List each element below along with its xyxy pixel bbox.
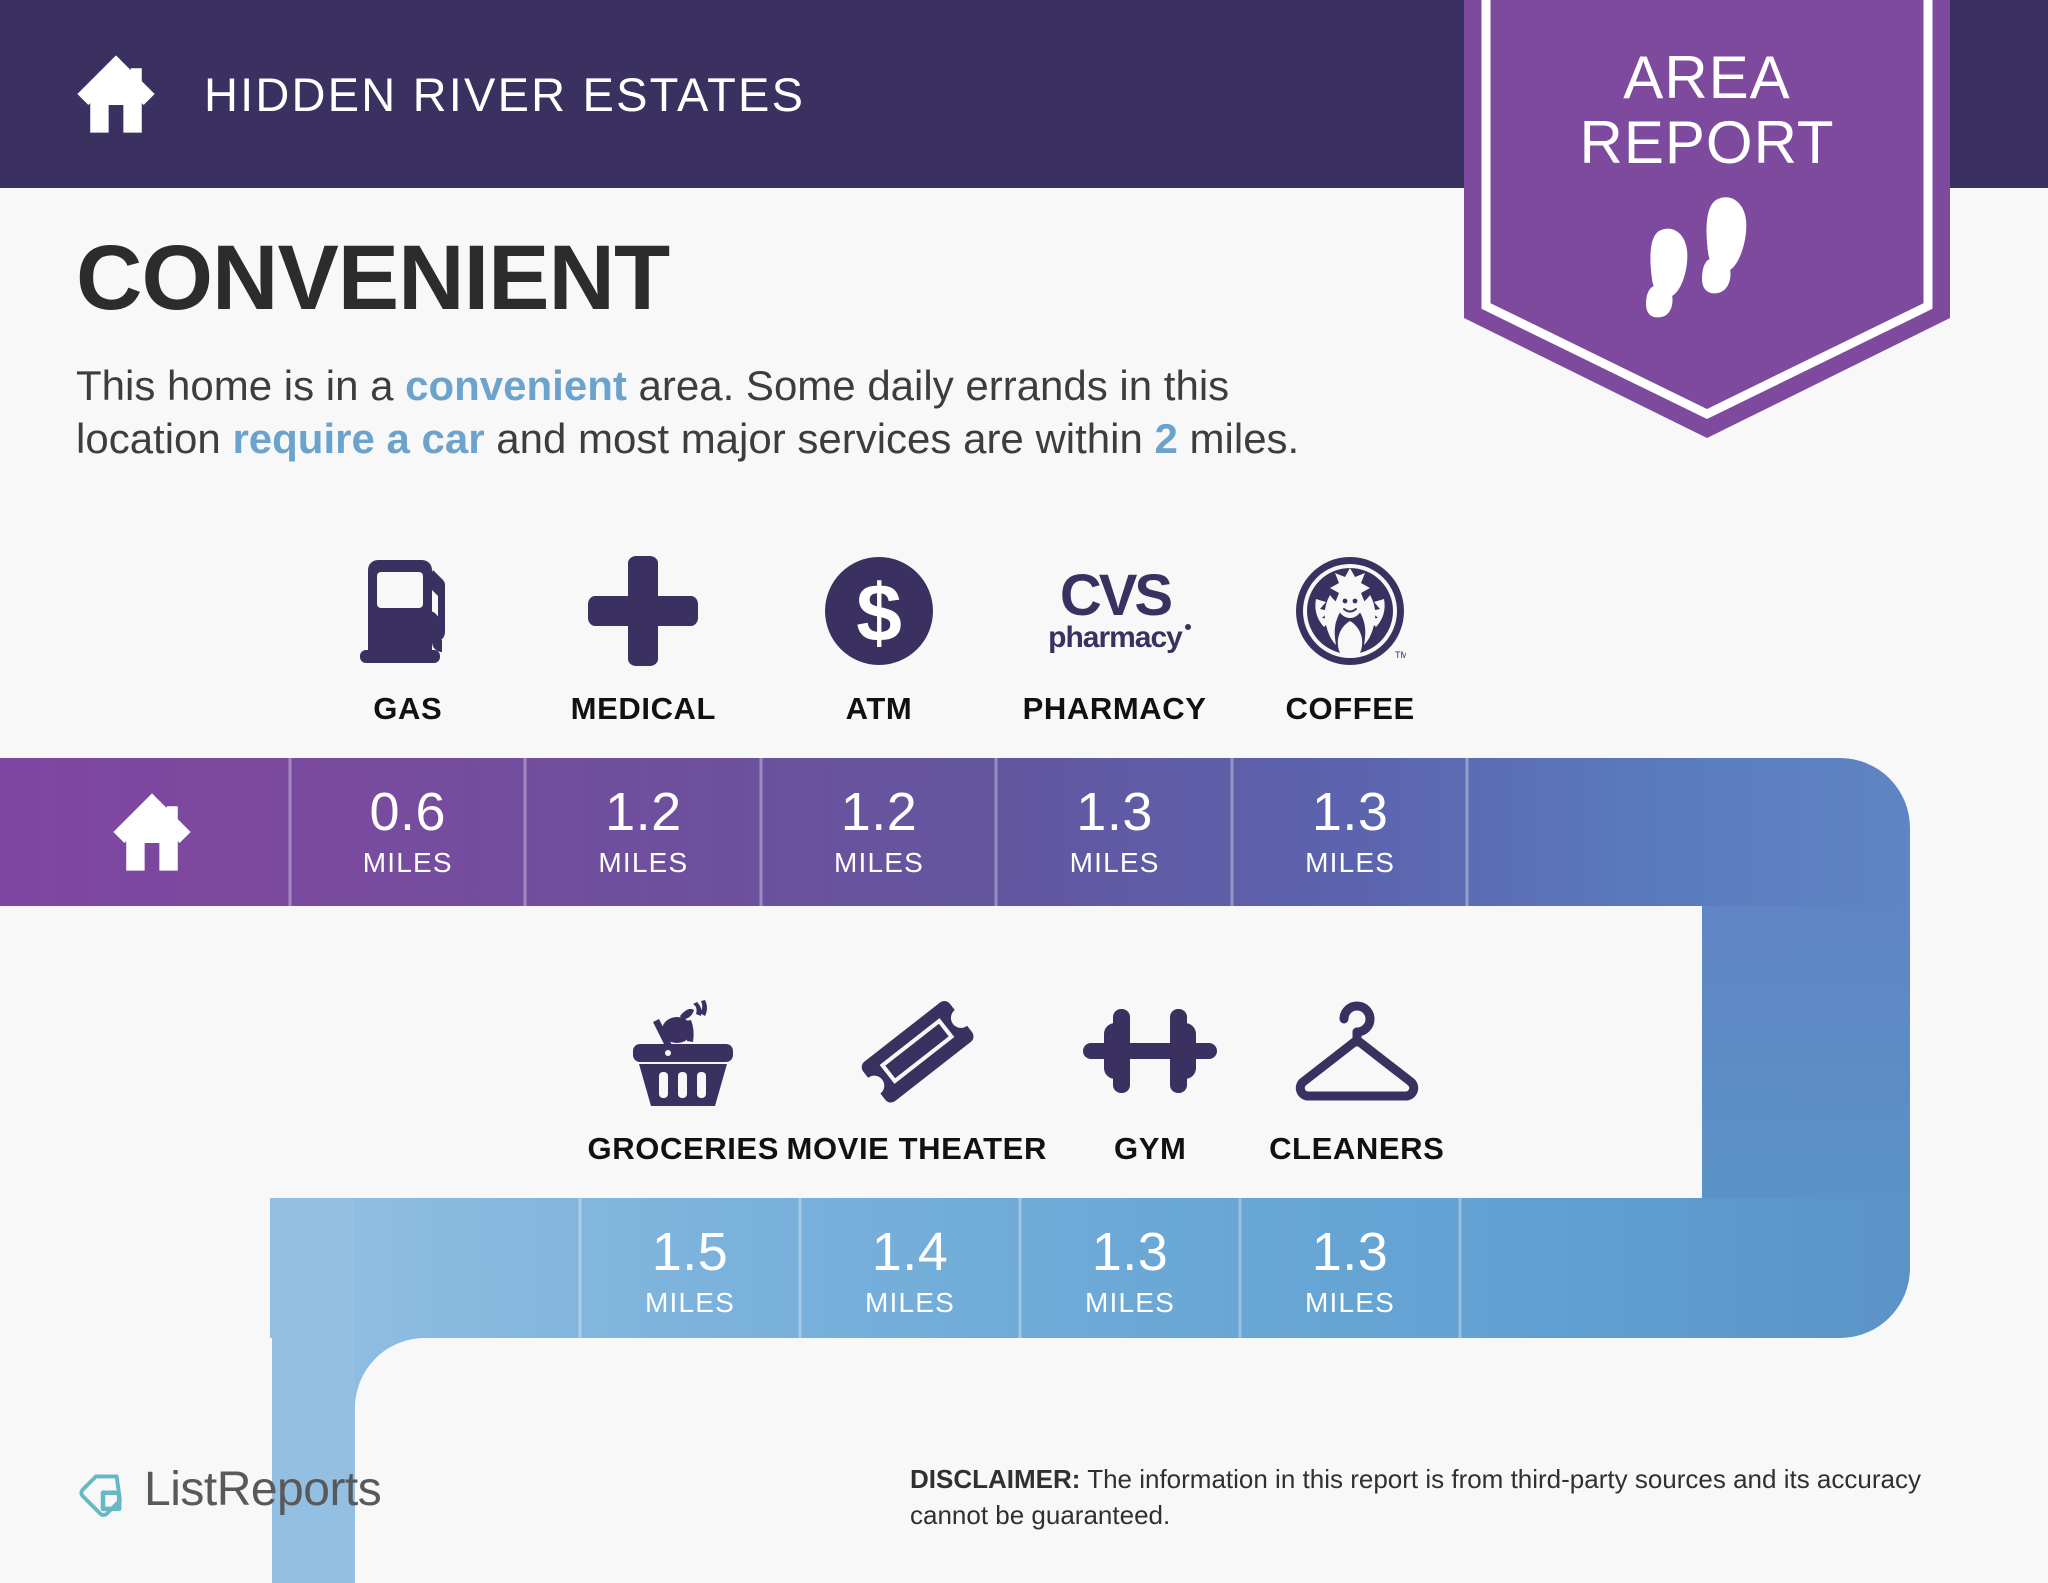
category-cleaners: CLEANERS bbox=[1253, 988, 1460, 1167]
distance-cell-movie-theater: 1.4 MILES bbox=[800, 1198, 1020, 1346]
home-marker bbox=[78, 758, 226, 906]
medical-cross-icon bbox=[588, 548, 698, 673]
distance-cell-cleaners: 1.3 MILES bbox=[1240, 1198, 1460, 1346]
category-icon-row-1: GAS MEDICAL $ ATM CVS pharmacy PHARMACY bbox=[290, 548, 1468, 727]
disclaimer-label: DISCLAIMER: bbox=[910, 1464, 1080, 1494]
title-block: CONVENIENT This home is in a convenient … bbox=[76, 232, 1416, 465]
category-label: GAS bbox=[373, 691, 442, 727]
distance-unit: MILES bbox=[834, 847, 924, 879]
distance-value: 0.6 bbox=[370, 785, 447, 839]
distance-unit: MILES bbox=[1305, 1287, 1395, 1319]
distance-value: 1.3 bbox=[1092, 1225, 1169, 1279]
listreports-house-icon bbox=[76, 1463, 130, 1517]
category-gym: GYM bbox=[1047, 988, 1254, 1167]
listreports-logo: ListReports bbox=[76, 1462, 381, 1517]
category-groceries: GROCERIES bbox=[580, 988, 787, 1167]
svg-text:pharmacy: pharmacy bbox=[1048, 621, 1183, 654]
svg-text:$: $ bbox=[856, 568, 902, 659]
distance-cell-medical: 1.2 MILES bbox=[526, 758, 762, 906]
desc-highlight-convenient: convenient bbox=[405, 362, 627, 409]
distance-value: 1.3 bbox=[1076, 785, 1153, 839]
distance-value: 1.2 bbox=[841, 785, 918, 839]
category-gas: GAS bbox=[290, 548, 526, 727]
svg-text:CVS: CVS bbox=[1059, 563, 1171, 628]
category-movie-theater: MOVIE THEATER bbox=[787, 988, 1047, 1167]
category-label: PHARMACY bbox=[1023, 691, 1207, 727]
starbucks-logo: TM bbox=[1294, 548, 1406, 673]
category-label: GROCERIES bbox=[588, 1131, 779, 1167]
page-title: CONVENIENT bbox=[76, 232, 1416, 324]
category-label: MOVIE THEATER bbox=[787, 1131, 1047, 1167]
distance-unit: MILES bbox=[598, 847, 688, 879]
distance-row-1: 0.6 MILES 1.2 MILES 1.2 MILES 1.3 MILES … bbox=[290, 758, 1468, 906]
distance-cell-groceries: 1.5 MILES bbox=[580, 1198, 800, 1346]
category-medical: MEDICAL bbox=[526, 548, 762, 727]
category-label: GYM bbox=[1114, 1131, 1186, 1167]
category-label: MEDICAL bbox=[571, 691, 716, 727]
listreports-wordmark: ListReports bbox=[144, 1462, 381, 1517]
desc-highlight-require-car: require a car bbox=[232, 415, 484, 462]
distance-cell-gym: 1.3 MILES bbox=[1020, 1198, 1240, 1346]
distance-value: 1.2 bbox=[605, 785, 682, 839]
svg-text:TM: TM bbox=[1395, 650, 1406, 660]
movie-ticket-icon bbox=[857, 988, 977, 1113]
distance-cell-coffee: 1.3 MILES bbox=[1232, 758, 1468, 906]
category-atm: $ ATM bbox=[761, 548, 997, 727]
page-description: This home is in a convenient area. Some … bbox=[76, 360, 1356, 465]
distance-unit: MILES bbox=[1070, 847, 1160, 879]
desc-part-4: miles. bbox=[1178, 415, 1299, 462]
atm-dollar-icon: $ bbox=[823, 548, 935, 673]
cvs-pharmacy-logo: CVS pharmacy bbox=[1030, 548, 1200, 673]
desc-part-3: and most major services are within bbox=[485, 415, 1155, 462]
gas-pump-icon bbox=[354, 548, 462, 673]
category-pharmacy: CVS pharmacy PHARMACY bbox=[997, 548, 1233, 727]
category-label: CLEANERS bbox=[1269, 1131, 1444, 1167]
desc-part-1: This home is in a bbox=[76, 362, 405, 409]
category-icon-row-2: GROCERIES MOVIE THEATER GYM bbox=[580, 988, 1460, 1167]
distance-row-2: 1.5 MILES 1.4 MILES 1.3 MILES 1.3 MILES bbox=[580, 1198, 1460, 1346]
distance-unit: MILES bbox=[1305, 847, 1395, 879]
property-name: HIDDEN RIVER ESTATES bbox=[204, 67, 805, 122]
grocery-basket-icon bbox=[623, 988, 743, 1113]
area-report-badge: AREA REPORT bbox=[1464, 0, 1950, 438]
distance-unit: MILES bbox=[1085, 1287, 1175, 1319]
distance-unit: MILES bbox=[645, 1287, 735, 1319]
distance-cell-gas: 0.6 MILES bbox=[290, 758, 526, 906]
distance-unit: MILES bbox=[865, 1287, 955, 1319]
distance-value: 1.5 bbox=[652, 1225, 729, 1279]
distance-cell-atm: 1.2 MILES bbox=[761, 758, 997, 906]
distance-value: 1.3 bbox=[1312, 1225, 1389, 1279]
category-label: COFFEE bbox=[1286, 691, 1415, 727]
distance-value: 1.4 bbox=[872, 1225, 949, 1279]
distance-unit: MILES bbox=[363, 847, 453, 879]
desc-highlight-miles: 2 bbox=[1155, 415, 1178, 462]
category-coffee: TM COFFEE bbox=[1232, 548, 1468, 727]
disclaimer: DISCLAIMER: The information in this repo… bbox=[910, 1462, 1970, 1534]
clothes-hanger-icon bbox=[1289, 988, 1425, 1113]
distance-cell-pharmacy: 1.3 MILES bbox=[997, 758, 1233, 906]
home-marker-icon bbox=[104, 786, 200, 878]
home-icon bbox=[70, 48, 162, 140]
distance-value: 1.3 bbox=[1312, 785, 1389, 839]
category-label: ATM bbox=[846, 691, 913, 727]
dumbbell-icon bbox=[1080, 988, 1220, 1113]
